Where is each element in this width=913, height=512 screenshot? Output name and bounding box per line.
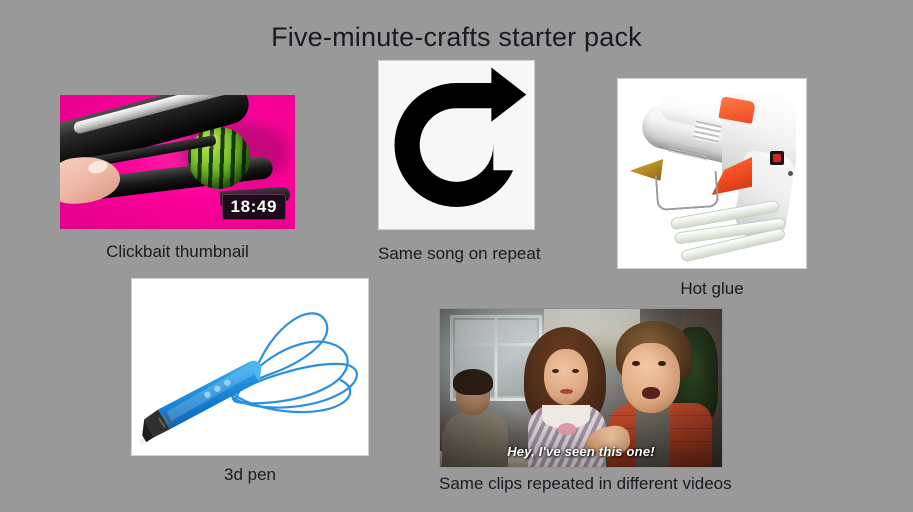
meme-canvas: Five-minute-crafts starter pack 18:49 Cl… [0,0,913,512]
page-title: Five-minute-crafts starter pack [0,22,913,53]
glue-gun-power-switch [770,151,784,165]
glue-gun-wire-stand [655,171,719,211]
movie-subtitle: Hey, I've seen this one! [440,444,722,459]
repeat-arrow-icon [379,61,534,229]
image-3d-pen [131,278,369,456]
glue-gun-indicator-light [788,171,793,176]
image-movie-clip: Hey, I've seen this one! [439,308,723,468]
caption-3d-pen: 3d pen [131,465,369,485]
caption-hot-glue: Hot glue [617,279,807,299]
watermelon [188,127,250,189]
caption-same-clips-repeated: Same clips repeated in different videos [439,474,723,494]
video-duration-badge: 18:49 [222,194,286,220]
image-repeat-icon [378,60,535,230]
caption-clickbait-thumbnail: Clickbait thumbnail [60,242,295,262]
image-clickbait-thumbnail: 18:49 [60,95,295,229]
image-hot-glue-gun [617,78,807,269]
caption-same-song-on-repeat: Same song on repeat [378,244,535,264]
